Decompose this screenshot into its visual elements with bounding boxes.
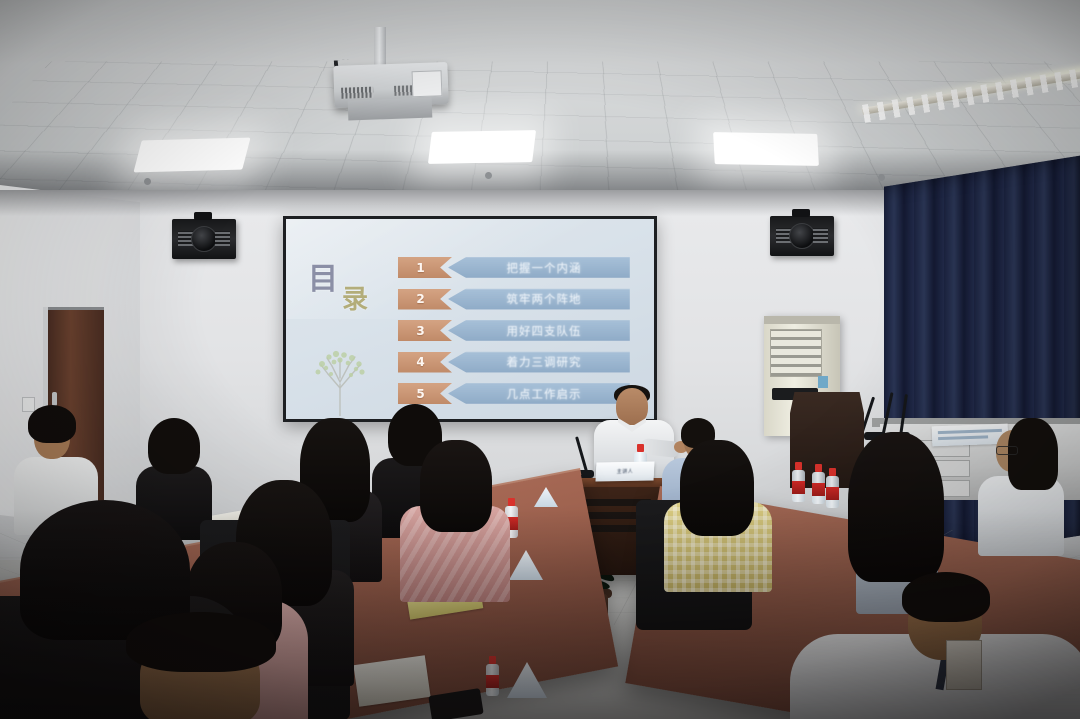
attendee-hair	[420, 440, 492, 532]
smoke-detector-icon	[485, 172, 492, 179]
projector-label	[412, 70, 443, 97]
attendee-foreground	[96, 612, 336, 719]
attendee	[664, 440, 772, 590]
water-bottle	[812, 464, 825, 504]
toc-label-bar: 用好四支队伍	[448, 320, 630, 341]
glasses-icon	[996, 446, 1018, 455]
slide-heading-char-1: 目	[308, 265, 338, 295]
speaker-cone-icon	[191, 226, 217, 252]
wall-speaker	[172, 219, 236, 259]
ac-louvers	[770, 329, 822, 377]
toc-number-tag: 4	[398, 352, 452, 373]
attendee	[978, 418, 1064, 548]
water-bottle	[486, 656, 499, 696]
slide-heading-char-2: 录	[342, 287, 368, 313]
bottle-cap	[795, 462, 802, 470]
led-panel-light	[133, 138, 250, 173]
speaker-grille	[215, 231, 230, 246]
wall-speaker	[770, 216, 834, 256]
led-panel-light	[713, 132, 819, 166]
attendee-hair	[680, 440, 754, 536]
toc-item: 2 筑牢两个阵地	[398, 289, 634, 313]
bottle-label	[486, 675, 499, 688]
ac-top-panel	[764, 316, 840, 324]
bottle-label	[792, 481, 805, 494]
meeting-room-photo: 目 录	[0, 0, 1080, 719]
toc-number-tag: 2	[398, 289, 452, 310]
presenter-head	[616, 388, 648, 425]
attendee	[400, 440, 510, 600]
toc-item: 4 着力三调研究	[398, 352, 634, 376]
door-handle-icon[interactable]	[52, 392, 57, 406]
toc-label-bar: 把握一个内涵	[448, 257, 630, 278]
attendee-foreground	[790, 572, 1080, 719]
speaker-grille	[813, 228, 828, 243]
toc-item: 3 用好四支队伍	[398, 320, 634, 344]
attendee-hair	[848, 432, 944, 582]
nameplate-text: 主讲人	[617, 468, 634, 475]
bottle-cap	[815, 464, 822, 472]
toc-label-bar: 筑牢两个阵地	[448, 289, 630, 310]
attendee-hair	[28, 405, 76, 443]
lanyard-badge	[946, 640, 982, 690]
bottle-cap	[829, 468, 836, 476]
attendee-hair	[148, 418, 200, 474]
attendee-hair	[902, 572, 990, 622]
ac-energy-sticker	[818, 376, 828, 388]
water-bottle	[792, 462, 805, 502]
bottle-label	[812, 483, 825, 496]
speaker-bracket	[792, 209, 810, 217]
projector-lens-housing	[348, 98, 433, 121]
attendee-hair	[126, 612, 276, 672]
smoke-detector-icon	[878, 174, 885, 181]
projector-vent	[341, 87, 373, 99]
bottle-cap	[489, 656, 496, 664]
speaker-bracket	[194, 212, 212, 220]
presenter-nameplate: 主讲人	[595, 461, 654, 481]
toc-label-bar: 着力三调研究	[448, 352, 630, 373]
bottle-cap	[637, 444, 644, 452]
toc-number-tag: 3	[398, 320, 452, 341]
toc-item: 1 把握一个内涵	[398, 257, 634, 281]
tree-graphic-icon	[304, 344, 376, 416]
toc-number-tag: 5	[398, 383, 452, 404]
speaker-cone-icon	[789, 223, 815, 249]
toc-number-tag: 1	[398, 257, 452, 278]
slide-heading: 目 录	[308, 265, 400, 325]
bottle-label	[826, 487, 839, 500]
led-panel-light	[428, 130, 536, 164]
water-bottle	[826, 468, 839, 508]
smoke-detector-icon	[144, 178, 151, 185]
